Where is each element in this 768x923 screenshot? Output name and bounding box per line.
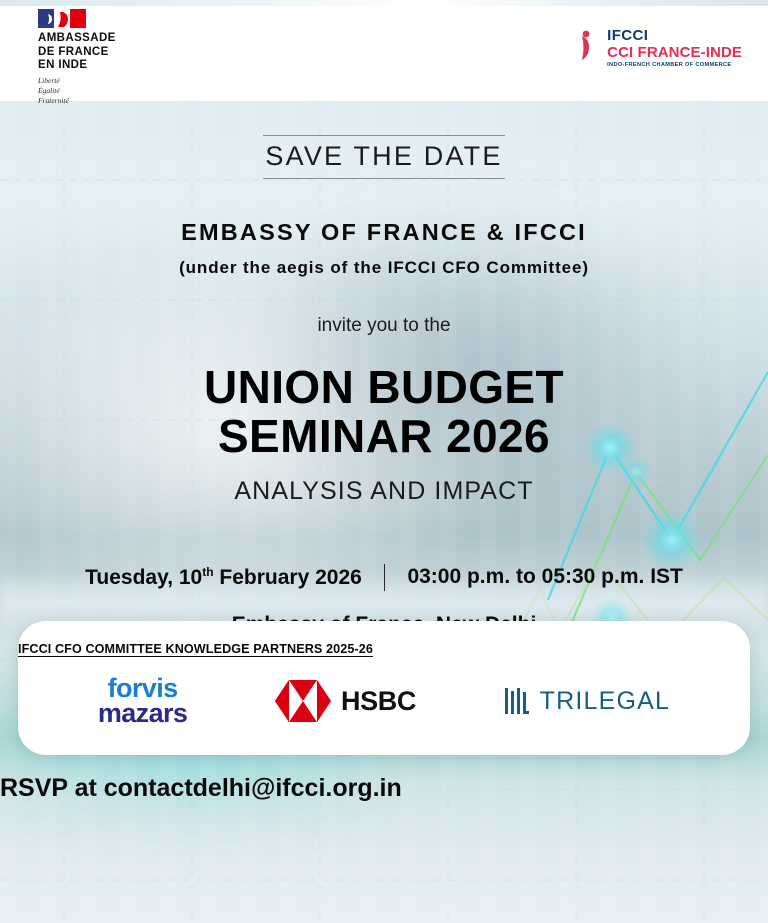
save-the-date-heading: SAVE THE DATE bbox=[263, 135, 504, 179]
event-date-prefix: Tuesday, 10 bbox=[85, 566, 202, 589]
event-date-suffix: February 2026 bbox=[214, 566, 362, 589]
ifcci-wordmark: IFCCI CCI FRANCE-INDE INDO-FRENCH CHAMBE… bbox=[607, 28, 742, 69]
ifcci-line3: INDO-FRENCH CHAMBER OF COMMERCE bbox=[607, 63, 742, 69]
knowledge-partners-card: IFCCI CFO COMMITTEE KNOWLEDGE PARTNERS 2… bbox=[18, 621, 750, 755]
rsvp-line: RSVP at contactdelhi@ifcci.org.in bbox=[0, 774, 768, 803]
partner-logo-forvis-mazars: forvis mazars bbox=[98, 676, 187, 727]
motto-liberte: Liberté bbox=[38, 76, 168, 86]
partner-logo-trilegal: TRILEGAL bbox=[504, 686, 670, 716]
partner-logo-hsbc: HSBC bbox=[275, 680, 416, 722]
motto-fraternite: Fraternité bbox=[38, 96, 168, 106]
header-top-strip bbox=[0, 0, 768, 6]
hsbc-hexagon-icon bbox=[275, 680, 331, 722]
organisers-heading: EMBASSY OF FRANCE & IFCCI bbox=[0, 219, 768, 246]
aegis-subheading: (under the aegis of the IFCCI CFO Commit… bbox=[0, 258, 768, 278]
french-flag-marianne-icon bbox=[38, 9, 86, 28]
embassy-of-france-logo: AMBASSADE DE FRANCE EN INDE Liberté Égal… bbox=[38, 9, 168, 106]
embassy-name-line3: EN INDE bbox=[38, 59, 168, 73]
trilegal-bars-icon bbox=[504, 686, 530, 716]
event-title-line1: UNION BUDGET bbox=[0, 363, 768, 412]
save-the-date-wrap: SAVE THE DATE bbox=[0, 135, 768, 179]
partner-logos: forvis mazars bbox=[18, 676, 750, 727]
partners-title: IFCCI CFO COMMITTEE KNOWLEDGE PARTNERS 2… bbox=[18, 642, 750, 656]
event-time: 03:00 p.m. to 05:30 p.m. IST bbox=[407, 565, 682, 589]
french-motto: Liberté Égalité Fraternité bbox=[38, 76, 168, 106]
ifcci-line1: IFCCI bbox=[607, 28, 742, 43]
poster: AMBASSADE DE FRANCE EN INDE Liberté Égal… bbox=[0, 0, 768, 923]
header-band: AMBASSADE DE FRANCE EN INDE Liberté Égal… bbox=[0, 0, 768, 101]
event-subtitle: ANALYSIS AND IMPACT bbox=[0, 477, 768, 506]
embassy-name: AMBASSADE DE FRANCE EN INDE bbox=[38, 32, 168, 73]
embassy-name-line1: AMBASSADE bbox=[38, 32, 168, 46]
embassy-name-line2: DE FRANCE bbox=[38, 46, 168, 60]
ifcci-line2: CCI FRANCE-INDE bbox=[607, 45, 742, 60]
event-title: UNION BUDGET SEMINAR 2026 bbox=[0, 363, 768, 461]
mazars-word: mazars bbox=[98, 701, 187, 726]
invite-line: invite you to the bbox=[0, 315, 768, 337]
ifcci-logo: IFCCI CCI FRANCE-INDE INDO-FRENCH CHAMBE… bbox=[555, 26, 742, 70]
event-date-ordinal: th bbox=[202, 565, 213, 579]
hsbc-word: HSBC bbox=[341, 686, 416, 717]
datetime-divider bbox=[384, 564, 386, 591]
trilegal-word: TRILEGAL bbox=[540, 687, 670, 716]
event-title-line2: SEMINAR 2026 bbox=[0, 412, 768, 461]
event-datetime: Tuesday, 10th February 2026 03:00 p.m. t… bbox=[0, 564, 768, 591]
ifcci-c-mark-icon bbox=[555, 26, 599, 70]
motto-egalite: Égalité bbox=[38, 86, 168, 96]
event-date: Tuesday, 10th February 2026 bbox=[85, 565, 362, 590]
